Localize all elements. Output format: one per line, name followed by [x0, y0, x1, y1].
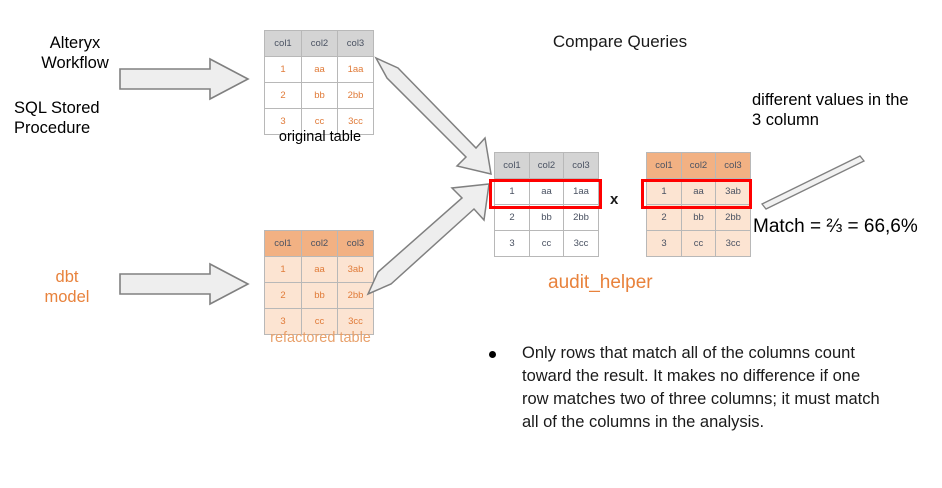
cell: 3cc	[564, 231, 599, 257]
compare-left-table-grid: col1 col2 col3 1 aa 1aa 2 bb 2bb 3	[494, 152, 599, 257]
cell: 1	[265, 57, 302, 83]
source-label-dbt-model: dbt model	[12, 267, 122, 307]
column-header-col1: col1	[647, 153, 682, 179]
compare-right-table: col1 col2 col3 1 aa 3ab 2 bb 2bb 3	[646, 152, 751, 257]
table-row: 2 bb 2bb	[495, 205, 599, 231]
cell: bb	[530, 205, 564, 231]
bullet-point-marker	[489, 351, 496, 358]
cell: 2	[495, 205, 530, 231]
page-title: Compare Queries	[500, 32, 740, 52]
arrow-right-bottom-icon	[118, 262, 250, 306]
audit-helper-label: audit_helper	[548, 272, 653, 294]
refactored-table-caption: refactored table	[248, 330, 393, 346]
table-row: 2 bb 2bb	[265, 283, 374, 309]
cell: 1	[495, 179, 530, 205]
cell: 3	[495, 231, 530, 257]
arrow-diagonal-up-right-icon	[362, 182, 507, 304]
diagram-canvas: Alteryx Workflow SQL Stored Procedure db…	[0, 0, 942, 488]
match-result-label: Match = ⅔ = 66,6%	[753, 216, 918, 238]
table-row: 1 aa 3ab	[265, 257, 374, 283]
column-header-col3: col3	[564, 153, 599, 179]
table-row: 2 bb 2bb	[647, 205, 751, 231]
table-row: 1 aa 3ab	[647, 179, 751, 205]
source-label-sql-stored-procedure: SQL Stored Procedure	[14, 98, 164, 138]
refactored-table-grid: col1 col2 col3 1 aa 3ab 2 bb 2bb 3	[264, 230, 374, 335]
cell: 1	[647, 179, 682, 205]
cell: bb	[302, 283, 338, 309]
column-header-col1: col1	[495, 153, 530, 179]
cell: 3ab	[716, 179, 751, 205]
arrow-right-top-icon	[118, 57, 250, 101]
column-header-col1: col1	[265, 231, 302, 257]
cell: 2	[265, 83, 302, 109]
cell: bb	[682, 205, 716, 231]
column-header-col2: col2	[302, 31, 338, 57]
compare-left-table: col1 col2 col3 1 aa 1aa 2 bb 2bb 3	[494, 152, 599, 257]
comparison-operator: x	[610, 191, 618, 208]
table-row: 3 cc 3cc	[495, 231, 599, 257]
cell: 1aa	[564, 179, 599, 205]
cell: aa	[530, 179, 564, 205]
column-header-col3: col3	[716, 153, 751, 179]
table-row: 1 aa 1aa	[495, 179, 599, 205]
annotation-different-values: different values in the 3 column	[752, 90, 937, 130]
column-header-col2: col2	[682, 153, 716, 179]
cell: aa	[302, 257, 338, 283]
table-header-row: col1 col2 col3	[647, 153, 751, 179]
pointer-line-icon	[758, 152, 870, 214]
cell: 2bb	[564, 205, 599, 231]
cell: aa	[682, 179, 716, 205]
table-row: 3 cc 3cc	[647, 231, 751, 257]
table-header-row: col1 col2 col3	[265, 231, 374, 257]
note-text: Only rows that match all of the columns …	[522, 342, 880, 434]
cell: 3	[647, 231, 682, 257]
cell: 3cc	[716, 231, 751, 257]
cell: 2	[647, 205, 682, 231]
cell: 2	[265, 283, 302, 309]
column-header-col2: col2	[302, 231, 338, 257]
cell: cc	[530, 231, 564, 257]
compare-right-table-grid: col1 col2 col3 1 aa 3ab 2 bb 2bb 3	[646, 152, 751, 257]
column-header-col2: col2	[530, 153, 564, 179]
cell: cc	[682, 231, 716, 257]
arrow-diagonal-down-right-icon	[352, 52, 517, 177]
cell: aa	[302, 57, 338, 83]
cell: 1	[265, 257, 302, 283]
table-header-row: col1 col2 col3	[495, 153, 599, 179]
column-header-col1: col1	[265, 31, 302, 57]
refactored-table: col1 col2 col3 1 aa 3ab 2 bb 2bb 3	[264, 230, 374, 335]
cell: bb	[302, 83, 338, 109]
cell: 2bb	[716, 205, 751, 231]
